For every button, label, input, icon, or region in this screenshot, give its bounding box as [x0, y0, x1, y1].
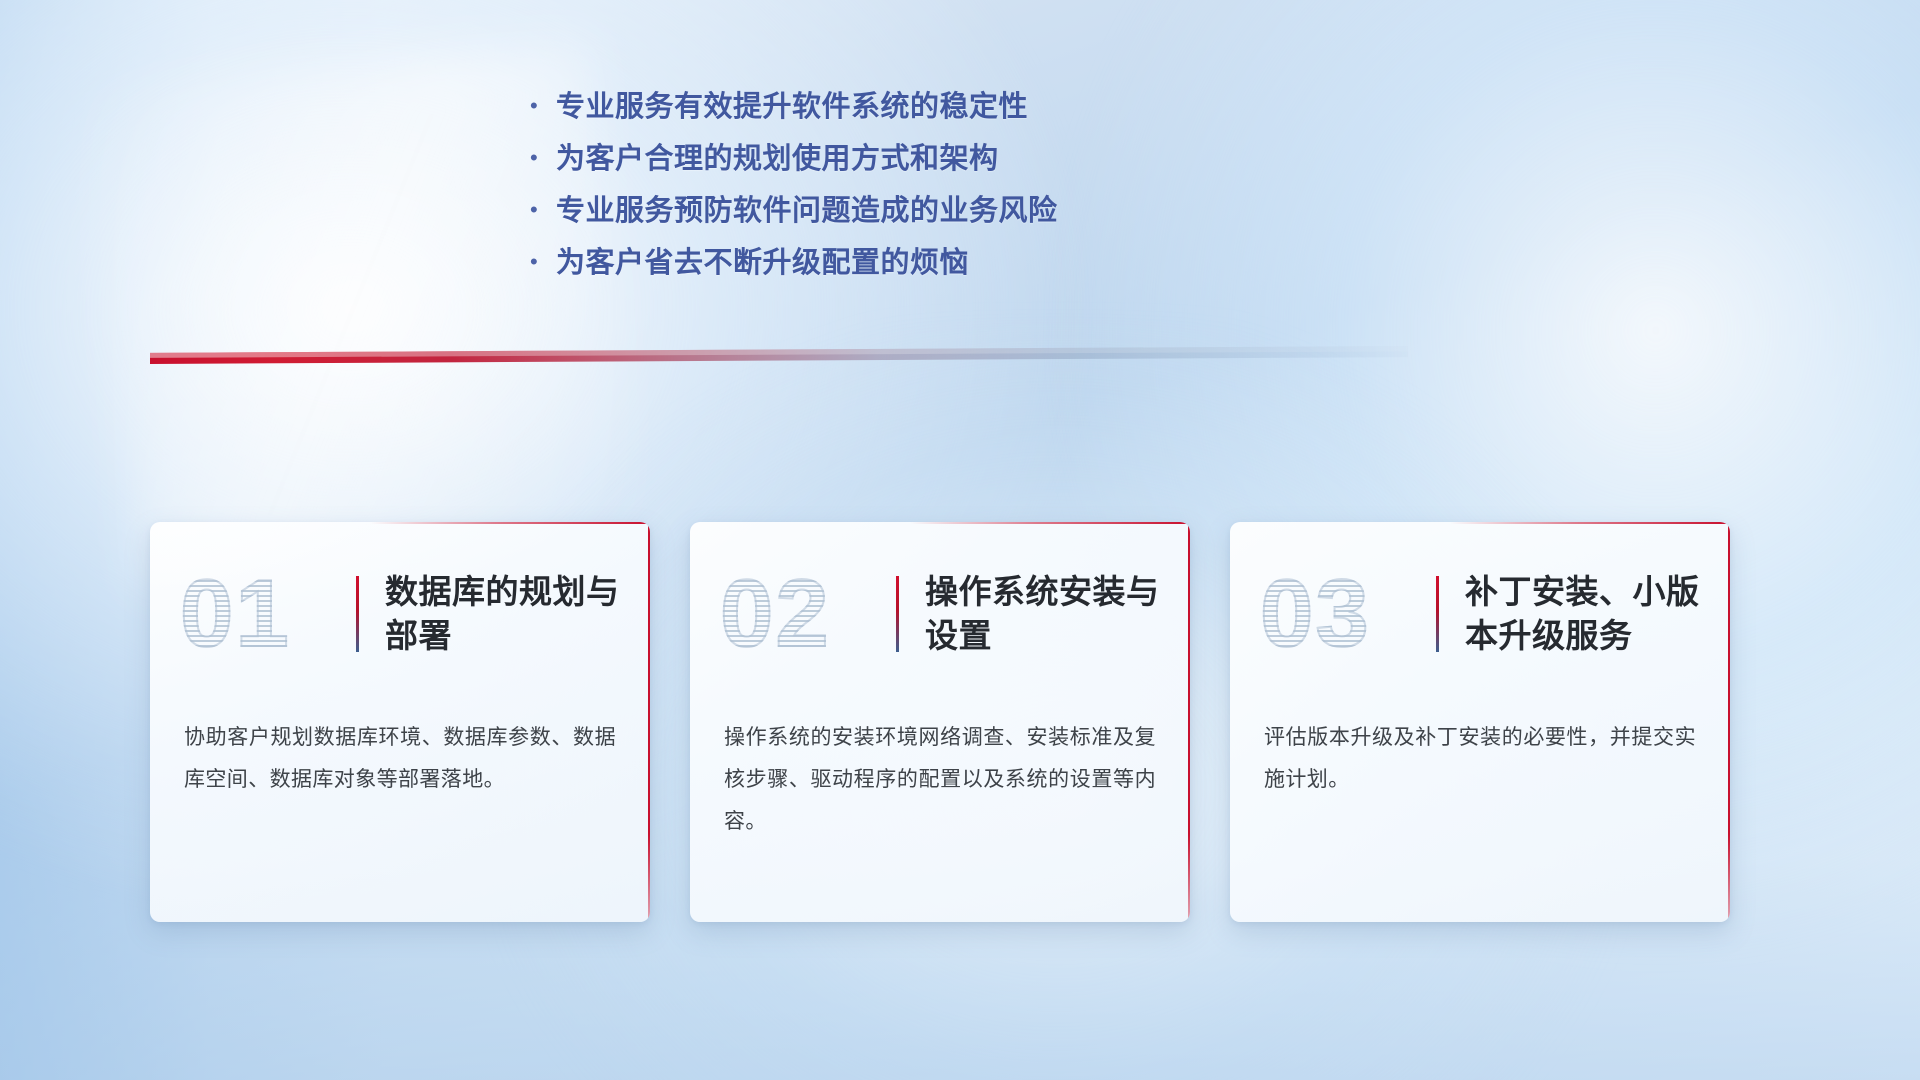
bullet-dot-icon: •: [530, 95, 556, 117]
card-top-accent: [1450, 522, 1730, 524]
bullet-item-4: • 为客户省去不断升级配置的烦恼: [530, 246, 1290, 298]
card-title: 数据库的规划与部署: [385, 570, 625, 657]
card-number: 03: [1260, 566, 1436, 662]
card-header: 01 数据库的规划与部署: [150, 544, 650, 684]
card-divider-bar: [356, 576, 359, 652]
card-title: 操作系统安装与设置: [925, 570, 1165, 657]
card-title: 补丁安装、小版本升级服务: [1465, 570, 1705, 657]
bullet-item-label: 为客户省去不断升级配置的烦恼: [556, 246, 969, 281]
section-divider: [150, 346, 1408, 364]
card-divider-bar: [896, 576, 899, 652]
service-card-list: 01 数据库的规划与部署 协助客户规划数据库环境、数据库参数、数据库空间、数据库…: [150, 522, 1730, 922]
bullet-item-3: • 专业服务预防软件问题造成的业务风险: [530, 194, 1290, 246]
bullet-item-2: • 为客户合理的规划使用方式和架构: [530, 142, 1290, 194]
card-body-text: 评估版本升级及补丁安装的必要性，并提交实施计划。: [1264, 717, 1696, 801]
card-body-text: 协助客户规划数据库环境、数据库参数、数据库空间、数据库对象等部署落地。: [184, 717, 616, 801]
bullet-dot-icon: •: [530, 147, 556, 169]
bullet-item-label: 专业服务有效提升软件系统的稳定性: [556, 90, 1028, 125]
service-card-02[interactable]: 02 操作系统安装与设置 操作系统的安装环境网络调查、安装标准及复核步骤、驱动程…: [690, 522, 1190, 922]
bullet-dot-icon: •: [530, 199, 556, 221]
card-body-text: 操作系统的安装环境网络调查、安装标准及复核步骤、驱动程序的配置以及系统的设置等内…: [724, 717, 1156, 843]
card-top-accent: [910, 522, 1190, 524]
bullet-item-label: 专业服务预防软件问题造成的业务风险: [556, 194, 1058, 229]
bullet-item-label: 为客户合理的规划使用方式和架构: [556, 142, 999, 177]
service-card-01[interactable]: 01 数据库的规划与部署 协助客户规划数据库环境、数据库参数、数据库空间、数据库…: [150, 522, 650, 922]
card-header: 02 操作系统安装与设置: [690, 544, 1190, 684]
card-number: 02: [720, 566, 896, 662]
card-top-accent: [370, 522, 650, 524]
bullet-dot-icon: •: [530, 251, 556, 273]
bullet-item-1: • 专业服务有效提升软件系统的稳定性: [530, 90, 1290, 142]
service-card-03[interactable]: 03 补丁安装、小版本升级服务 评估版本升级及补丁安装的必要性，并提交实施计划。: [1230, 522, 1730, 922]
card-divider-bar: [1436, 576, 1439, 652]
card-header: 03 补丁安装、小版本升级服务: [1230, 544, 1730, 684]
benefits-bullet-list: • 专业服务有效提升软件系统的稳定性 • 为客户合理的规划使用方式和架构 • 专…: [530, 90, 1290, 298]
card-number: 01: [180, 566, 356, 662]
